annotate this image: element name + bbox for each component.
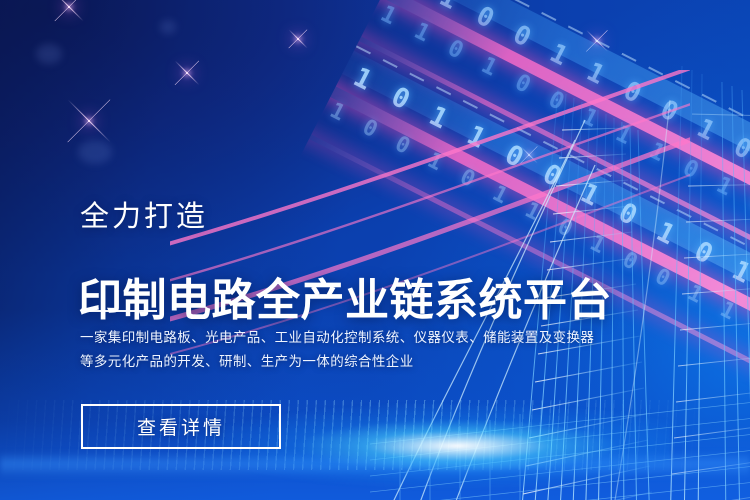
- page-title: 印制电路全产业链系统平台: [78, 264, 612, 328]
- hero-subtitle: 一家集印制电路板、光电产品、工业自动化控制系统、仪器仪表、储能装置及变换器 等多…: [80, 326, 550, 374]
- hero-banner: 1 0 1 0 0 1 1 0 0 1 0 1 1 0 1 0 0 1 1 0 …: [0, 0, 750, 500]
- title-divider: [81, 310, 157, 312]
- hero-subtitle-line-2: 等多元化产品的开发、研制、生产为一体的综合性企业: [80, 350, 550, 374]
- hero-eyebrow: 全力打造: [80, 193, 208, 235]
- hero-subtitle-line-1: 一家集印制电路板、光电产品、工业自动化控制系统、仪器仪表、储能装置及变换器: [80, 326, 550, 350]
- view-details-button[interactable]: 查看详情: [81, 404, 281, 449]
- hero-content: 全力打造 印制电路全产业链系统平台 一家集印制电路板、光电产品、工业自动化控制系…: [0, 0, 750, 500]
